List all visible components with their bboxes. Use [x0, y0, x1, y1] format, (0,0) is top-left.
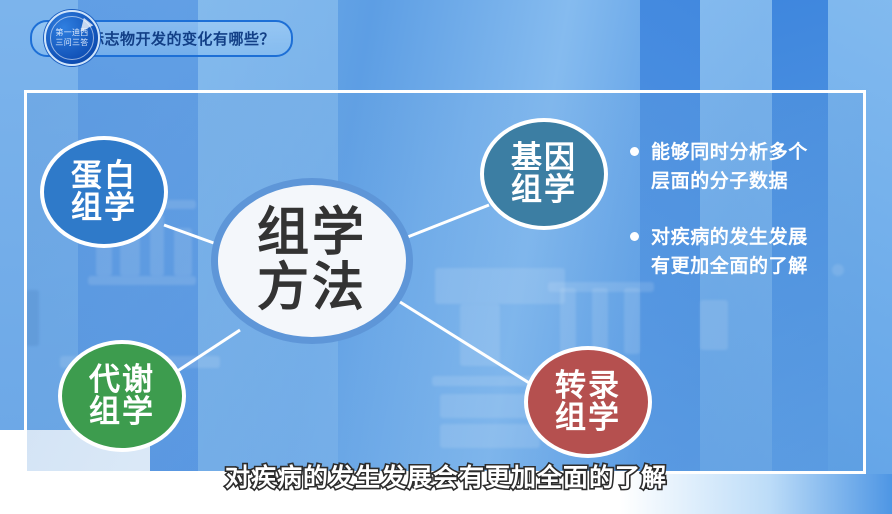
bullet-1-line1: 能够同时分析多个: [651, 138, 808, 167]
node-genome-omics[interactable]: 基因 组学: [480, 118, 608, 230]
brand-logo-wrap: 第一迪西 三问三答: [46, 18, 100, 58]
node-center-line1: 组学: [257, 207, 367, 260]
bullet-list: 能够同时分析多个 层面的分子数据 对疾病的发生发展 有更加全面的了解: [630, 138, 868, 308]
bullet-text: 能够同时分析多个 层面的分子数据: [651, 138, 808, 197]
bullet-dot-icon: [630, 232, 639, 241]
node-protein-line2: 组学: [71, 192, 137, 224]
bullet-item: 对疾病的发生发展 有更加全面的了解: [630, 223, 868, 282]
brand-logo-line2: 三问三答: [55, 39, 88, 47]
bullet-item: 能够同时分析多个 层面的分子数据: [630, 138, 868, 197]
node-center-line2: 方法: [257, 262, 367, 315]
bullet-2-line1: 对疾病的发生发展: [651, 223, 808, 252]
bullet-dot-icon: [630, 147, 639, 156]
node-protein-omics[interactable]: 蛋白 组学: [40, 136, 168, 248]
bullet-text: 对疾病的发生发展 有更加全面的了解: [651, 223, 808, 282]
video-frame: 生物标志物开发的变化有哪些？ 第一迪西 三问三答 组学 方法 蛋白 组学 基因 …: [0, 0, 892, 514]
bullet-1-line2: 层面的分子数据: [651, 167, 808, 196]
bullet-2-line2: 有更加全面的了解: [651, 252, 808, 281]
node-center-omics-methods[interactable]: 组学 方法: [211, 178, 413, 344]
node-metabolic-line2: 组学: [89, 396, 155, 428]
node-transcript-omics[interactable]: 转录 组学: [524, 346, 652, 458]
node-protein-line1: 蛋白: [71, 160, 137, 192]
brand-logo: 第一迪西 三问三答: [44, 10, 100, 66]
node-genome-line1: 基因: [511, 142, 577, 174]
node-transcript-line2: 组学: [555, 402, 621, 434]
node-genome-line2: 组学: [511, 174, 577, 206]
node-metabolic-line1: 代谢: [89, 364, 155, 396]
node-transcript-line1: 转录: [555, 370, 621, 402]
subtitle-caption: 对疾病的发生发展会有更加全面的了解: [0, 458, 892, 494]
node-metabolic-omics[interactable]: 代谢 组学: [58, 340, 186, 452]
